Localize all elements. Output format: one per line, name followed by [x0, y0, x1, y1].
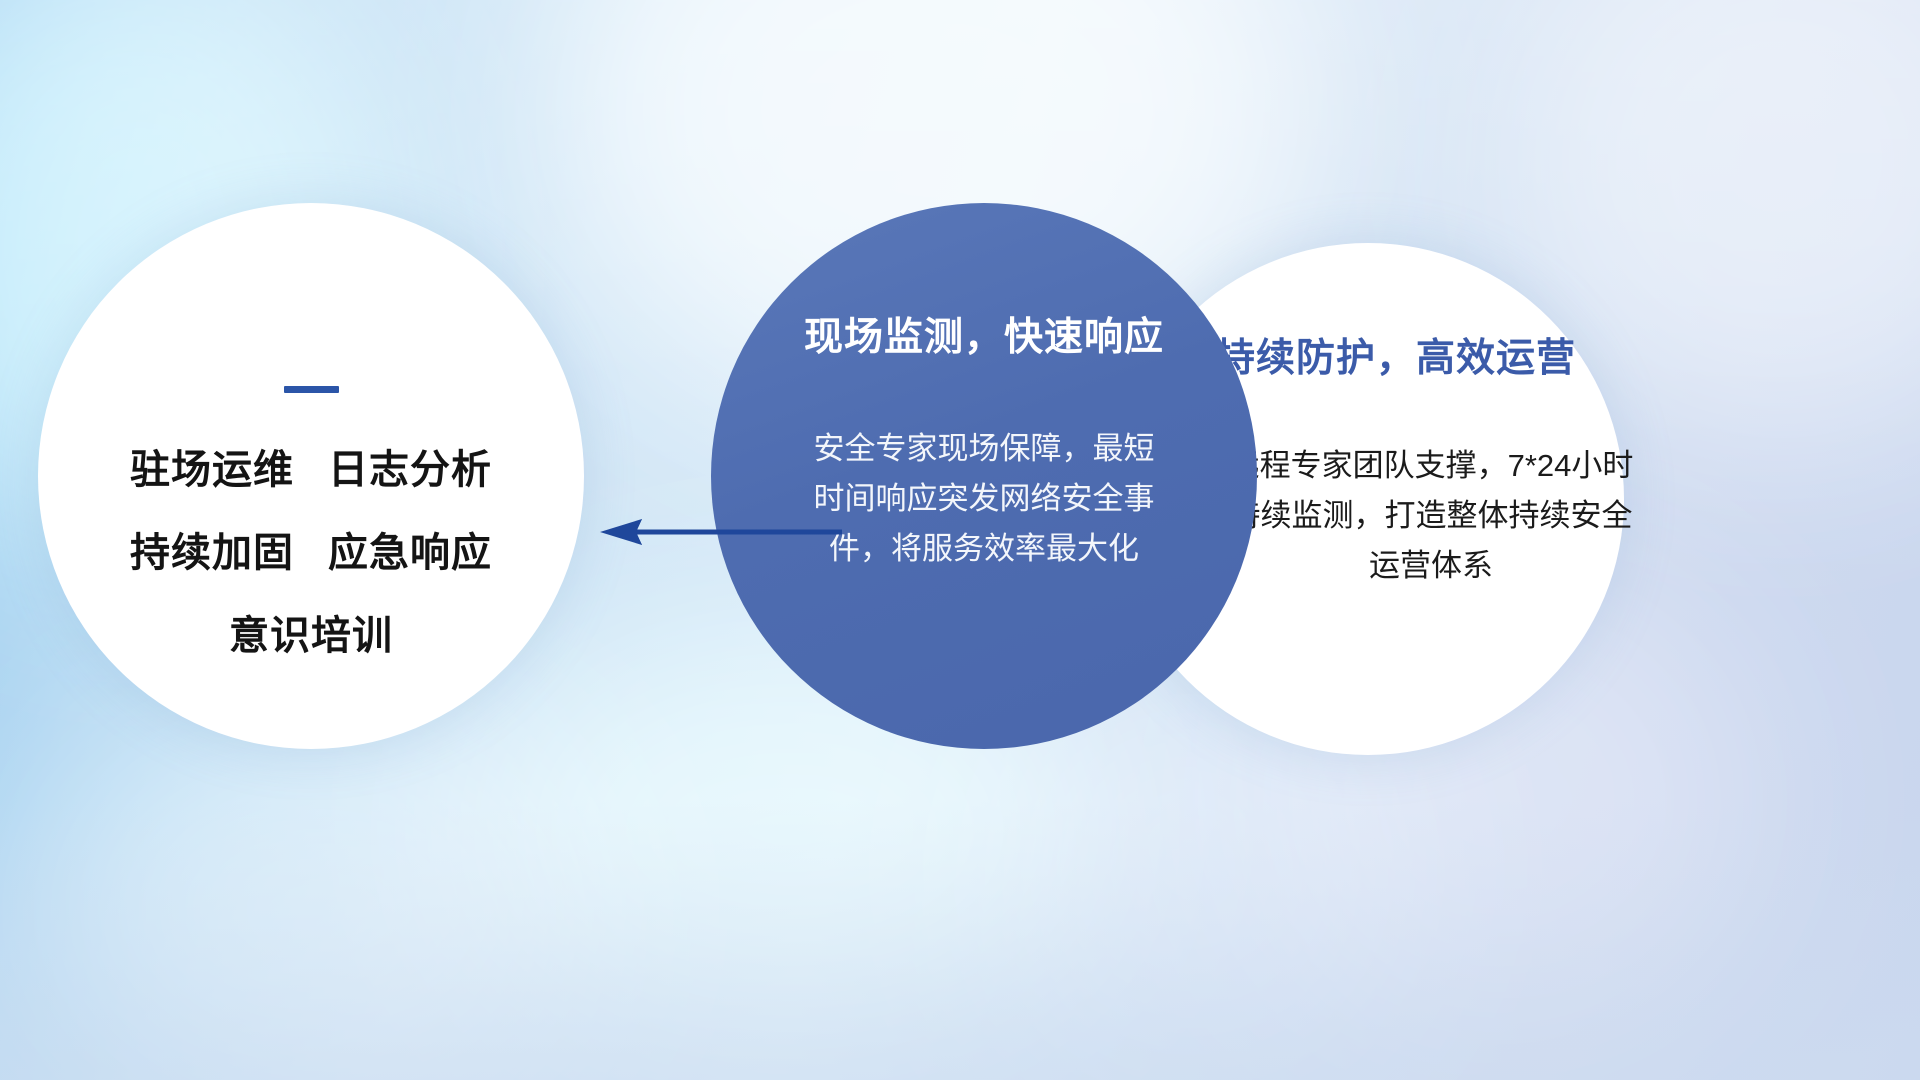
title-divider-dash [284, 386, 339, 393]
continuous-operation-title: 持续防护，高效运营 [1216, 327, 1646, 383]
arrow-left-icon [596, 514, 844, 550]
capability-tag: 持续加固 [130, 520, 294, 578]
capability-tag: 意识培训 [229, 603, 393, 661]
continuous-operation-body: 远程专家团队支撑，7*24小时持续监测，打造整体持续安全运营体系 [1216, 441, 1646, 591]
capability-tag: 日志分析 [328, 437, 492, 495]
capability-circle[interactable]: 驻场运维 日志分析 持续加固 应急响应 意识培训 [38, 203, 584, 749]
capability-tag: 驻场运维 [130, 437, 294, 495]
capability-tag: 应急响应 [328, 520, 492, 578]
onsite-monitoring-circle[interactable]: 现场监测，快速响应 安全专家现场保障，最短时间响应突发网络安全事件，将服务效率最… [711, 203, 1257, 749]
capability-tag-row: 意识培训 [229, 603, 393, 661]
onsite-monitoring-body: 安全专家现场保障，最短时间响应突发网络安全事件，将服务效率最大化 [799, 424, 1169, 574]
capability-tag-row: 持续加固 应急响应 [130, 520, 492, 578]
capability-tag-list: 驻场运维 日志分析 持续加固 应急响应 意识培训 [130, 437, 492, 661]
capability-tag-row: 驻场运维 日志分析 [130, 437, 492, 495]
continuous-operation-content: 持续防护，高效运营 远程专家团队支撑，7*24小时持续监测，打造整体持续安全运营… [1216, 243, 1646, 591]
onsite-monitoring-title: 现场监测，快速响应 [804, 306, 1164, 362]
